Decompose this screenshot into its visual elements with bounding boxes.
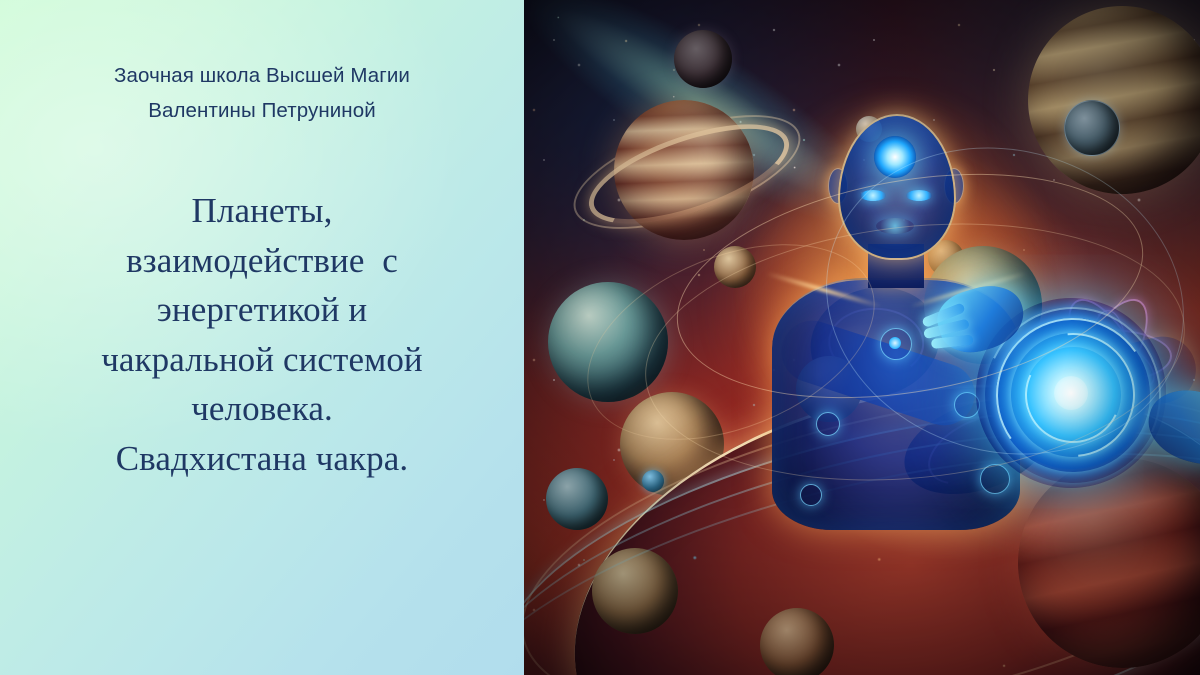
title-line-2: взаимодействие с [46,236,478,286]
title-line-6: Свадхистана чакра. [46,434,478,484]
school-name-line-2: Валентины Петруниной [0,93,524,128]
title-line-1: Планеты, [46,186,478,236]
title-line-3: энергетикой и [46,285,478,335]
title-line-4: чакральной системой [46,335,478,385]
school-name: Заочная школа Высшей Магии Валентины Пет… [0,58,524,128]
cosmic-artwork-image [524,0,1200,675]
text-panel: Заочная школа Высшей Магии Валентины Пет… [0,0,524,675]
school-name-line-1: Заочная школа Высшей Магии [0,58,524,93]
presentation-slide: Заочная школа Высшей Магии Валентины Пет… [0,0,1200,675]
slide-title: Планеты, взаимодействие с энергетикой и … [46,186,478,483]
title-line-5: человека. [46,384,478,434]
vignette-overlay [524,0,1200,675]
